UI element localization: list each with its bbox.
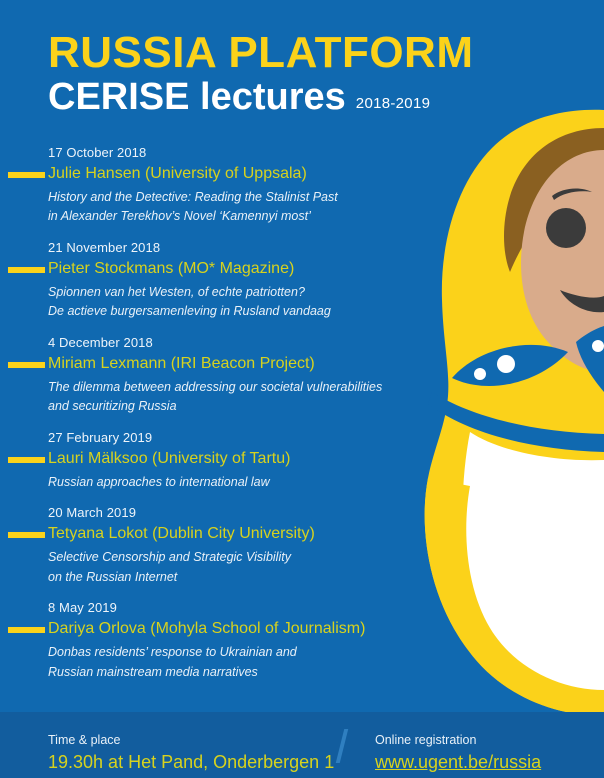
doll-petal-left	[452, 345, 568, 386]
lecture-date: 21 November 2018	[48, 238, 420, 258]
lecture-topic-line: The dilemma between addressing our socie…	[48, 378, 420, 397]
list-item: 27 February 2019 Lauri Mälksoo (Universi…	[0, 428, 420, 491]
accent-bar-icon	[8, 267, 45, 273]
lecture-speaker: Miriam Lexmann (IRI Beacon Project)	[48, 353, 315, 375]
lecture-topic-line: Donbas residents’ response to Ukrainian …	[48, 643, 420, 662]
lecture-topic-line: Russian mainstream media narratives	[48, 663, 420, 682]
footer-inner: Time & place 19.30h at Het Pand, Onderbe…	[0, 712, 604, 778]
doll-face	[521, 150, 604, 372]
lecture-topic-line: Spionnen van het Westen, of echte patrio…	[48, 283, 420, 302]
accent-bar-icon	[8, 627, 45, 633]
list-item: 4 December 2018 Miriam Lexmann (IRI Beac…	[0, 333, 420, 416]
lecture-speaker-row: Pieter Stockmans (MO* Magazine)	[0, 258, 420, 282]
lecture-topic-line: on the Russian Internet	[48, 568, 420, 587]
lecture-speaker: Tetyana Lokot (Dublin City University)	[48, 523, 315, 545]
lecture-speaker-row: Lauri Mälksoo (University of Tartu)	[0, 448, 420, 472]
lecture-speaker: Pieter Stockmans (MO* Magazine)	[48, 258, 294, 280]
doll-hair	[504, 128, 604, 272]
lecture-topic-line: in Alexander Terekhov’s Novel ‘Kamennyi …	[48, 207, 420, 226]
lecture-date: 8 May 2019	[48, 598, 420, 618]
doll-petal-right	[576, 326, 604, 392]
doll-apron	[462, 432, 604, 694]
lecture-topic-line: and securitizing Russia	[48, 397, 420, 416]
page-subtitle: CERISE lectures	[48, 78, 346, 118]
registration-link[interactable]: www.ugent.be/russia	[375, 752, 541, 772]
page-title: RUSSIA PLATFORM	[48, 30, 468, 76]
doll-petal-dot-large	[497, 355, 515, 373]
accent-bar-icon	[8, 362, 45, 368]
lecture-speaker: Dariya Orlova (Mohyla School of Journali…	[48, 618, 365, 640]
footer-registration-block: Online registration www.ugent.be/russia	[375, 731, 541, 774]
doll-petal-dot-small	[474, 368, 486, 380]
time-place-label: Time & place	[48, 731, 334, 750]
lecture-date: 4 December 2018	[48, 333, 420, 353]
accent-bar-icon	[8, 172, 45, 178]
doll-smile	[560, 290, 604, 312]
doll-eye	[546, 208, 586, 248]
list-item: 20 March 2019 Tetyana Lokot (Dublin City…	[0, 503, 420, 586]
lecture-topic-line: Russian approaches to international law	[48, 473, 420, 492]
list-item: 17 October 2018 Julie Hansen (University…	[0, 143, 420, 226]
list-item: 21 November 2018 Pieter Stockmans (MO* M…	[0, 238, 420, 321]
lecture-speaker-row: Julie Hansen (University of Uppsala)	[0, 163, 420, 187]
accent-bar-icon	[8, 457, 45, 463]
doll-scarf-edge	[428, 392, 604, 452]
lecture-speaker-row: Tetyana Lokot (Dublin City University)	[0, 523, 420, 547]
lecture-date: 27 February 2019	[48, 428, 420, 448]
lecture-date: 17 October 2018	[48, 143, 420, 163]
lecture-list: 17 October 2018 Julie Hansen (University…	[0, 143, 420, 693]
footer-time-place-block: Time & place 19.30h at Het Pand, Onderbe…	[48, 731, 334, 774]
list-item: 8 May 2019 Dariya Orlova (Mohyla School …	[0, 598, 420, 681]
lecture-topic-line: De actieve burgersamenleving in Rusland …	[48, 302, 420, 321]
lecture-speaker-row: Dariya Orlova (Mohyla School of Journali…	[0, 618, 420, 642]
doll-petal-dot-right	[592, 340, 604, 352]
subtitle-row: CERISE lectures 2018-2019	[48, 78, 468, 118]
lecture-speaker-row: Miriam Lexmann (IRI Beacon Project)	[0, 353, 420, 377]
time-place-value: 19.30h at Het Pand, Onderbergen 1	[48, 751, 334, 774]
poster-header: RUSSIA PLATFORM CERISE lectures 2018-201…	[48, 30, 468, 118]
lecture-topic-line: Selective Censorship and Strategic Visib…	[48, 548, 420, 567]
doll-scarf-and-body	[425, 110, 604, 716]
accent-bar-icon	[8, 532, 45, 538]
registration-label: Online registration	[375, 731, 541, 750]
lecture-topic-line: History and the Detective: Reading the S…	[48, 188, 420, 207]
doll-eyebrow	[552, 189, 592, 200]
doll-petal-group	[452, 326, 604, 392]
poster-root: RUSSIA PLATFORM CERISE lectures 2018-201…	[0, 0, 604, 778]
lecture-date: 20 March 2019	[48, 503, 420, 523]
lecture-speaker: Lauri Mälksoo (University of Tartu)	[48, 448, 290, 470]
lecture-speaker: Julie Hansen (University of Uppsala)	[48, 163, 307, 185]
registration-value: www.ugent.be/russia	[375, 751, 541, 774]
poster-footer: Time & place 19.30h at Het Pand, Onderbe…	[0, 712, 604, 778]
doll-body-hem	[425, 478, 604, 716]
academic-year-label: 2018-2019	[356, 95, 430, 112]
slash-divider-icon	[336, 729, 348, 763]
